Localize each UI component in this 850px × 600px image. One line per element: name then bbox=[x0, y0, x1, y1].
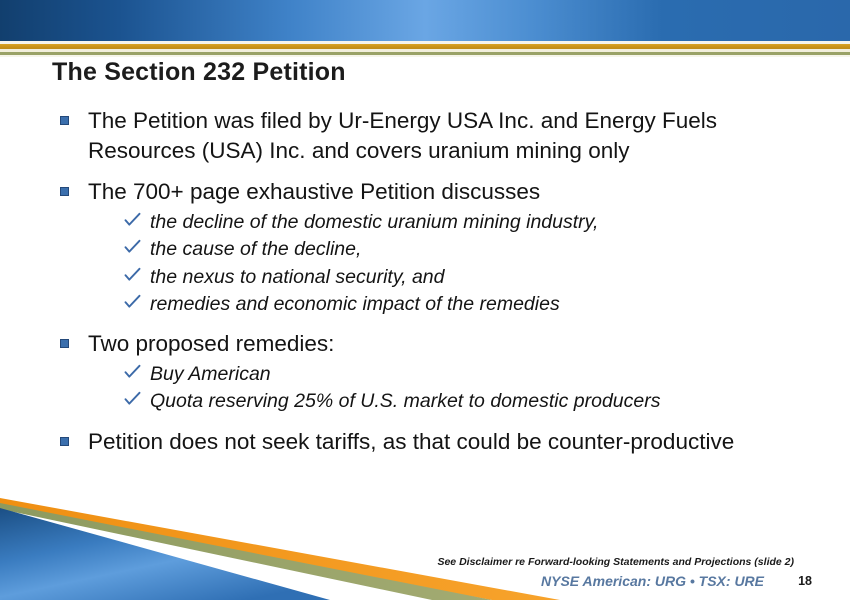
slide: The Section 232 Petition The Petition wa… bbox=[0, 0, 850, 600]
check-icon bbox=[124, 364, 141, 381]
check-icon bbox=[124, 239, 141, 256]
sub-bullet-item: the decline of the domestic uranium mini… bbox=[58, 210, 828, 235]
square-bullet-icon bbox=[60, 437, 69, 446]
bullet-block: Two proposed remedies: Buy American Quot… bbox=[58, 329, 828, 414]
olive-wedge bbox=[0, 503, 492, 600]
bullet-item: The 700+ page exhaustive Petition discus… bbox=[58, 177, 828, 207]
sub-bullet-item: the cause of the decline, bbox=[58, 237, 828, 262]
bullet-item: Petition does not seek tariffs, as that … bbox=[58, 427, 828, 457]
sub-bullet-item: Buy American bbox=[58, 362, 828, 387]
corner-decoration bbox=[0, 490, 560, 600]
ticker-text: NYSE American: URG • TSX: URE bbox=[541, 573, 764, 589]
square-bullet-icon bbox=[60, 187, 69, 196]
sub-bullet-text: Buy American bbox=[150, 363, 271, 385]
bullet-text: Two proposed remedies: bbox=[88, 329, 828, 359]
bullet-text: The 700+ page exhaustive Petition discus… bbox=[88, 177, 828, 207]
bullet-item: The Petition was filed by Ur-Energy USA … bbox=[58, 106, 828, 165]
check-icon bbox=[124, 267, 141, 284]
white-separator-wedge bbox=[0, 509, 432, 600]
check-icon bbox=[124, 212, 141, 229]
bullet-block: The Petition was filed by Ur-Energy USA … bbox=[58, 106, 828, 165]
sub-bullet-item: the nexus to national security, and bbox=[58, 265, 828, 290]
bullet-block: Petition does not seek tariffs, as that … bbox=[58, 427, 828, 457]
bullet-block: The 700+ page exhaustive Petition discus… bbox=[58, 177, 828, 317]
sub-bullet-text: the cause of the decline, bbox=[150, 238, 361, 260]
square-bullet-icon bbox=[60, 339, 69, 348]
header-gradient-band bbox=[0, 0, 850, 41]
blue-wedge bbox=[0, 508, 330, 600]
orange-wedge bbox=[0, 498, 560, 600]
sub-bullet-item: remedies and economic impact of the reme… bbox=[58, 292, 828, 317]
sub-bullet-text: remedies and economic impact of the reme… bbox=[150, 293, 560, 315]
bullet-content: The Petition was filed by Ur-Energy USA … bbox=[58, 106, 828, 469]
header-cream-stripe-2 bbox=[0, 55, 850, 57]
bullet-text: Petition does not seek tariffs, as that … bbox=[88, 427, 828, 457]
page-number: 18 bbox=[798, 574, 812, 588]
sub-bullet-text: Quota reserving 25% of U.S. market to do… bbox=[150, 390, 660, 412]
sub-bullet-text: the nexus to national security, and bbox=[150, 266, 445, 288]
bullet-item: Two proposed remedies: bbox=[58, 329, 828, 359]
square-bullet-icon bbox=[60, 116, 69, 125]
check-icon bbox=[124, 391, 141, 408]
bullet-text: The Petition was filed by Ur-Energy USA … bbox=[88, 106, 828, 165]
disclaimer-text: See Disclaimer re Forward-looking Statem… bbox=[437, 556, 794, 568]
sub-bullet-item: Quota reserving 25% of U.S. market to do… bbox=[58, 389, 828, 414]
page-title: The Section 232 Petition bbox=[52, 58, 346, 87]
check-icon bbox=[124, 294, 141, 311]
sub-bullet-text: the decline of the domestic uranium mini… bbox=[150, 211, 598, 233]
